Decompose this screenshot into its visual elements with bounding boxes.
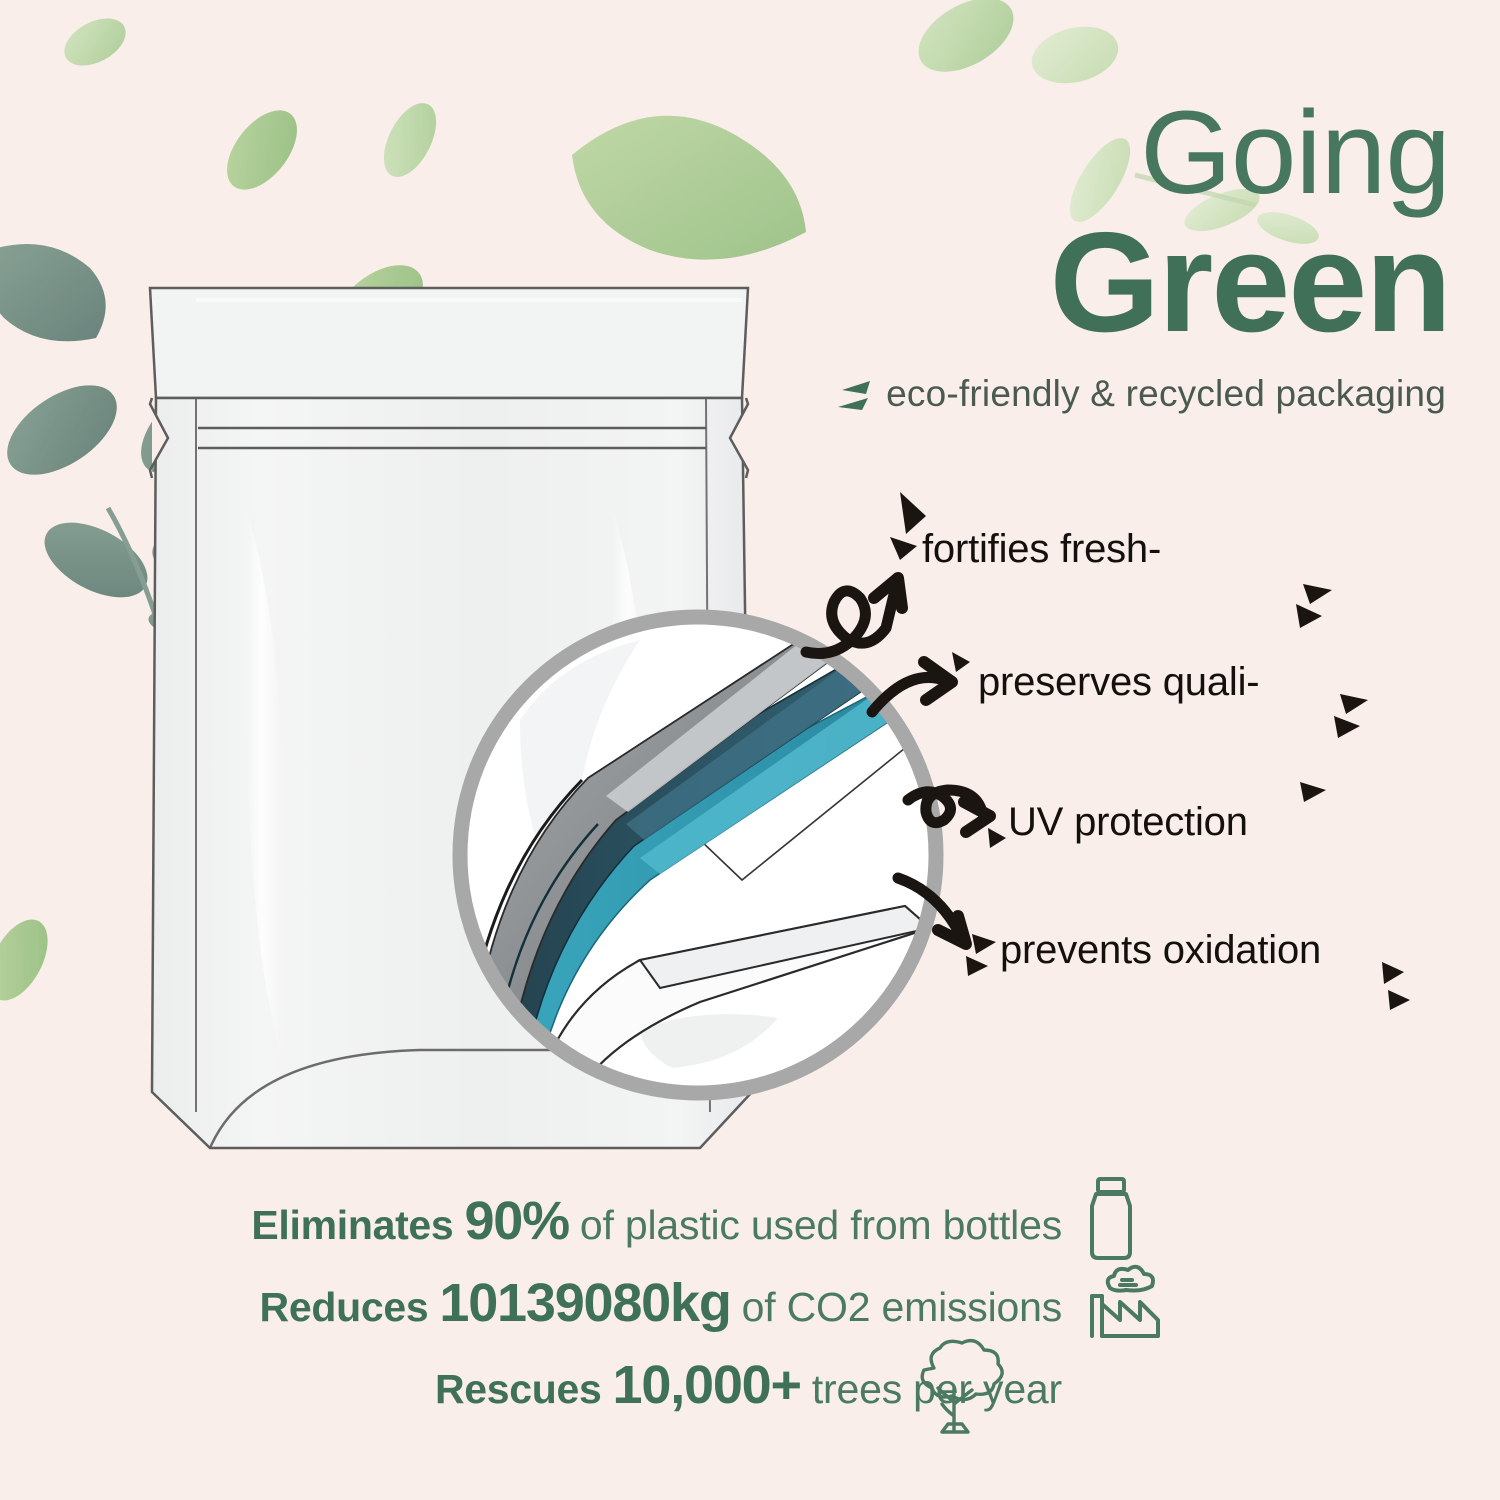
factory-emissions-icon — [1086, 1258, 1164, 1340]
curved-arrow-down-right-icon — [898, 878, 960, 934]
stat-value: 10,000+ — [602, 1354, 812, 1416]
headline-block: Going Green eco-friendly & recycled pack… — [830, 96, 1450, 415]
callout-fortifies-freshness: fortifies fresh- — [922, 527, 1161, 572]
double-triangle-accent-icon — [832, 377, 872, 411]
callout-uv-protection: UV protection — [1008, 800, 1248, 845]
stat-value: 10139080kg — [428, 1272, 741, 1334]
tree-icon — [900, 1338, 1008, 1438]
going-green-infographic: Going Green eco-friendly & recycled pack… — [0, 0, 1500, 1500]
bottle-icon — [1078, 1176, 1144, 1262]
stat-lead: Rescues — [435, 1366, 602, 1413]
stat-tail: of CO2 emissions — [742, 1284, 1062, 1331]
callout-prevents-oxidation: prevents oxidation — [1000, 928, 1321, 973]
stat-row: Eliminates 90% of plastic used from bott… — [0, 1190, 1120, 1272]
title-line-going: Going — [830, 96, 1450, 212]
stat-tail: of plastic used from bottles — [580, 1202, 1062, 1249]
stat-value: 90% — [453, 1190, 579, 1252]
subtitle-row: eco-friendly & recycled packaging — [830, 373, 1450, 415]
stat-lead: Eliminates — [251, 1202, 453, 1249]
stat-lead: Reduces — [260, 1284, 429, 1331]
title-line-green: Green — [830, 216, 1450, 351]
callout-preserves-quality: preserves quali- — [978, 660, 1259, 705]
subtitle-text: eco-friendly & recycled packaging — [886, 373, 1446, 415]
